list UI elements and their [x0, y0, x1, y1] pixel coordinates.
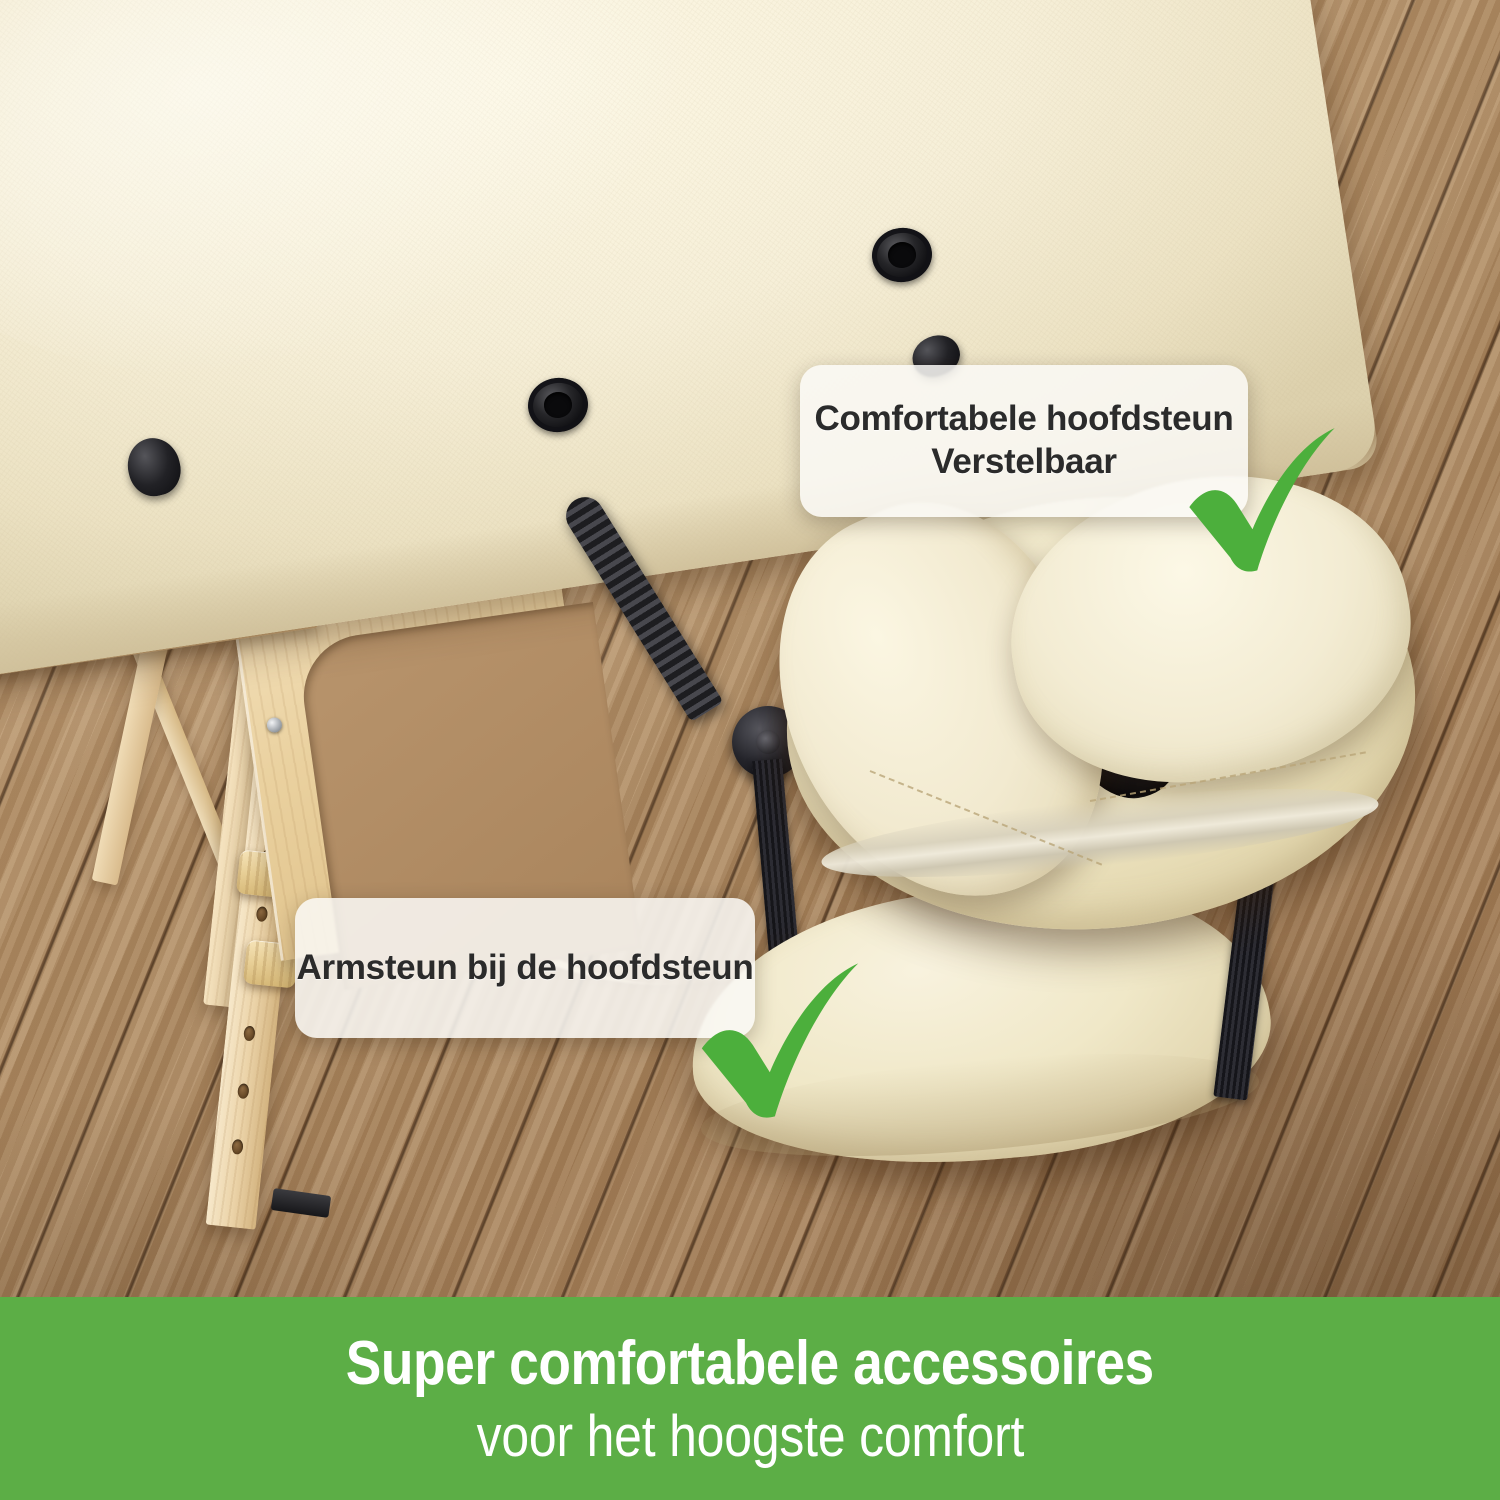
banner-subheadline: voor het hoogste comfort: [476, 1403, 1024, 1470]
panel-screw: [266, 717, 283, 734]
check-mark-icon: [690, 960, 870, 1130]
callout-armrest-text: Armsteun bij de hoofdsteun: [297, 947, 754, 990]
leg-adjust-hole: [231, 1139, 244, 1155]
callout-headrest-line1: Comfortabele hoofdsteun: [815, 399, 1234, 438]
leg-adjust-hole: [243, 1025, 256, 1041]
leg-adjust-hole: [256, 906, 269, 922]
check-mark-icon: [1178, 425, 1346, 583]
bottom-banner: Super comfortabele accessoires voor het …: [0, 1297, 1500, 1500]
leg-adjust-hole: [237, 1083, 250, 1099]
product-marketing-image: AVENO life Comfortabele hoofdsteun Verst…: [0, 0, 1500, 1500]
callout-armrest[interactable]: Armsteun bij de hoofdsteun: [295, 898, 755, 1038]
callout-headrest-text: Comfortabele hoofdsteun Verstelbaar: [815, 398, 1234, 483]
callout-headrest-line2: Verstelbaar: [931, 442, 1116, 481]
banner-headline: Super comfortabele accessoires: [346, 1328, 1154, 1399]
